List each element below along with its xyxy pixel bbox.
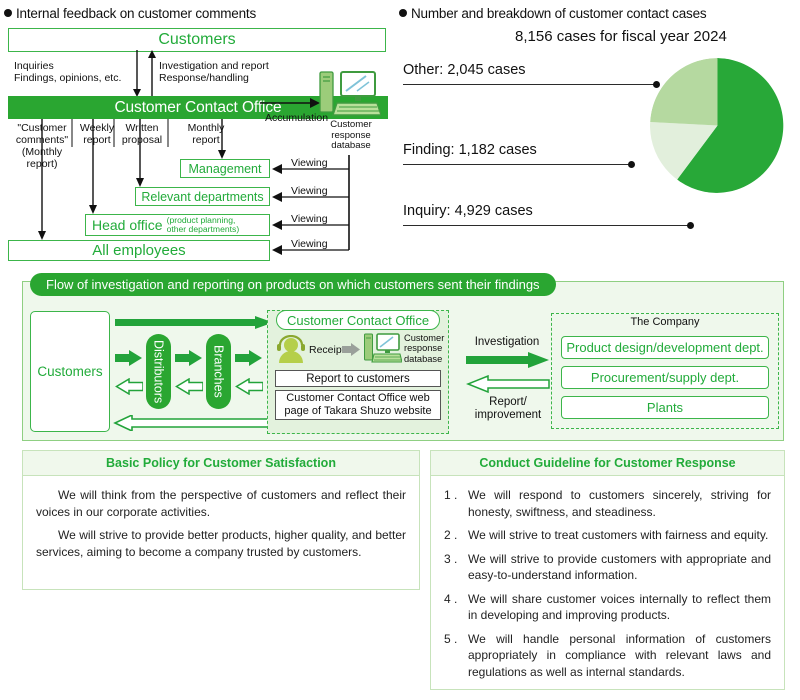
guideline-num: 5 . — [444, 631, 468, 681]
guideline-text: We will strive to treat customers with f… — [468, 527, 771, 544]
investigation-label: Investigation — [464, 336, 550, 349]
pie-dot-finding — [628, 161, 635, 168]
conduct-guideline-body: 1 . We will respond to customers sincere… — [431, 476, 784, 697]
arrow-fwd-1 — [115, 350, 143, 366]
policy-paragraph-1: We will think from the perspective of cu… — [36, 487, 406, 520]
branches-pill: Branches — [206, 334, 231, 409]
flow-banner: Flow of investigation and reporting on p… — [30, 273, 556, 296]
arrow-back-1 — [115, 378, 143, 395]
internal-feedback-heading: Internal feedback on customer comments — [4, 6, 256, 21]
basic-policy-body: We will think from the perspective of cu… — [23, 476, 419, 577]
pie-leader-finding — [403, 164, 631, 165]
arrow-fwd-3 — [235, 350, 263, 366]
flow-database-caption: Customer response database — [404, 333, 450, 364]
guideline-num: 4 . — [444, 591, 468, 624]
list-item: 4 . We will share customer voices intern… — [444, 591, 771, 624]
pie-slice-other — [650, 58, 717, 126]
pie-leader-inquiry — [403, 225, 690, 226]
list-item: 3 . We will strive to provide customers … — [444, 551, 771, 584]
distributors-pill: Distributors — [146, 334, 171, 409]
guideline-text: We will handle personal information of c… — [468, 631, 771, 681]
label-inquiries: Inquiries Findings, opinions, etc. — [14, 60, 121, 84]
guideline-list: 1 . We will respond to customers sincere… — [444, 487, 771, 680]
customers-box: Customers — [8, 28, 386, 52]
conduct-guideline-panel: Conduct Guideline for Customer Response … — [430, 450, 785, 690]
pie-chart — [650, 58, 785, 193]
arrow-back-3 — [235, 378, 263, 395]
viewing-label-2: Viewing — [291, 185, 328, 197]
basic-policy-heading: Basic Policy for Customer Satisfaction — [23, 451, 419, 476]
guideline-text: We will share customer voices internally… — [468, 591, 771, 624]
flow-customers-box: Customers — [30, 311, 110, 432]
label-investigation-report: Investigation and report Response/handli… — [159, 60, 269, 84]
cco-webpage-card: Customer Contact Office web page of Taka… — [275, 390, 441, 420]
guideline-text: We will strive to provide customers with… — [468, 551, 771, 584]
pie-dot-other — [653, 81, 660, 88]
pie-dot-inquiry — [687, 222, 694, 229]
guideline-num: 2 . — [444, 527, 468, 544]
viewing-label-4: Viewing — [291, 238, 328, 250]
pie-leader-other — [403, 84, 656, 85]
report-improvement-label: Report/ improvement — [462, 396, 554, 422]
chart-title: 8,156 cases for fiscal year 2024 — [515, 28, 727, 45]
viewing-label-3: Viewing — [291, 213, 328, 225]
receipt-label: Receipt — [309, 344, 345, 356]
customer-response-database-icon — [319, 70, 381, 118]
company-title: The Company — [551, 316, 779, 328]
arrow-customers-to-cco — [115, 316, 275, 330]
arrow-fwd-2 — [175, 350, 203, 366]
bullet-icon — [4, 9, 12, 17]
arrow-investigation — [466, 352, 550, 368]
guideline-text: We will respond to customers sincerely, … — [468, 487, 771, 520]
viewing-label-1: Viewing — [291, 157, 328, 169]
basic-policy-panel: Basic Policy for Customer Satisfaction W… — [22, 450, 420, 590]
customer-contact-cases-chart: Number and breakdown of customer contact… — [395, 0, 800, 268]
flow-database-icon — [364, 333, 402, 365]
cco-webpage-text: Customer Contact Office web page of Taka… — [284, 392, 431, 418]
pie-label-inquiry: Inquiry: 4,929 cases — [403, 203, 533, 219]
guideline-num: 1 . — [444, 487, 468, 520]
list-item: 2 . We will strive to treat customers wi… — [444, 527, 771, 544]
list-item: 1 . We will respond to customers sincere… — [444, 487, 771, 520]
company-item-product-design: Product design/development dept. — [561, 336, 769, 359]
list-item: 5 . We will handle personal information … — [444, 631, 771, 681]
internal-feedback-diagram: Internal feedback on customer comments C… — [0, 0, 395, 268]
receipt-arrow-icon — [342, 343, 360, 356]
arrow-report-improvement — [466, 375, 550, 393]
pie-label-finding: Finding: 1,182 cases — [403, 142, 537, 158]
report-to-customers-card: Report to customers — [275, 370, 441, 387]
pie-wrap — [650, 58, 785, 233]
customers-box-label: Customers — [158, 31, 235, 49]
policy-paragraph-2: We will strive to provide better product… — [36, 527, 406, 560]
viewing-arrows — [0, 155, 395, 265]
arrow-cco-to-customers — [113, 415, 275, 431]
arrow-back-2 — [175, 378, 203, 395]
bullet-icon — [399, 9, 407, 17]
guideline-num: 3 . — [444, 551, 468, 584]
cases-heading: Number and breakdown of customer contact… — [399, 6, 706, 21]
flow-cco-title: Customer Contact Office — [276, 310, 440, 330]
company-item-plants: Plants — [561, 396, 769, 419]
conduct-guideline-heading: Conduct Guideline for Customer Response — [431, 451, 784, 476]
cco-bar-label: Customer Contact Office — [114, 99, 281, 117]
company-item-procurement: Procurement/supply dept. — [561, 366, 769, 389]
operator-headset-icon — [276, 335, 306, 365]
pie-label-other: Other: 2,045 cases — [403, 62, 526, 78]
